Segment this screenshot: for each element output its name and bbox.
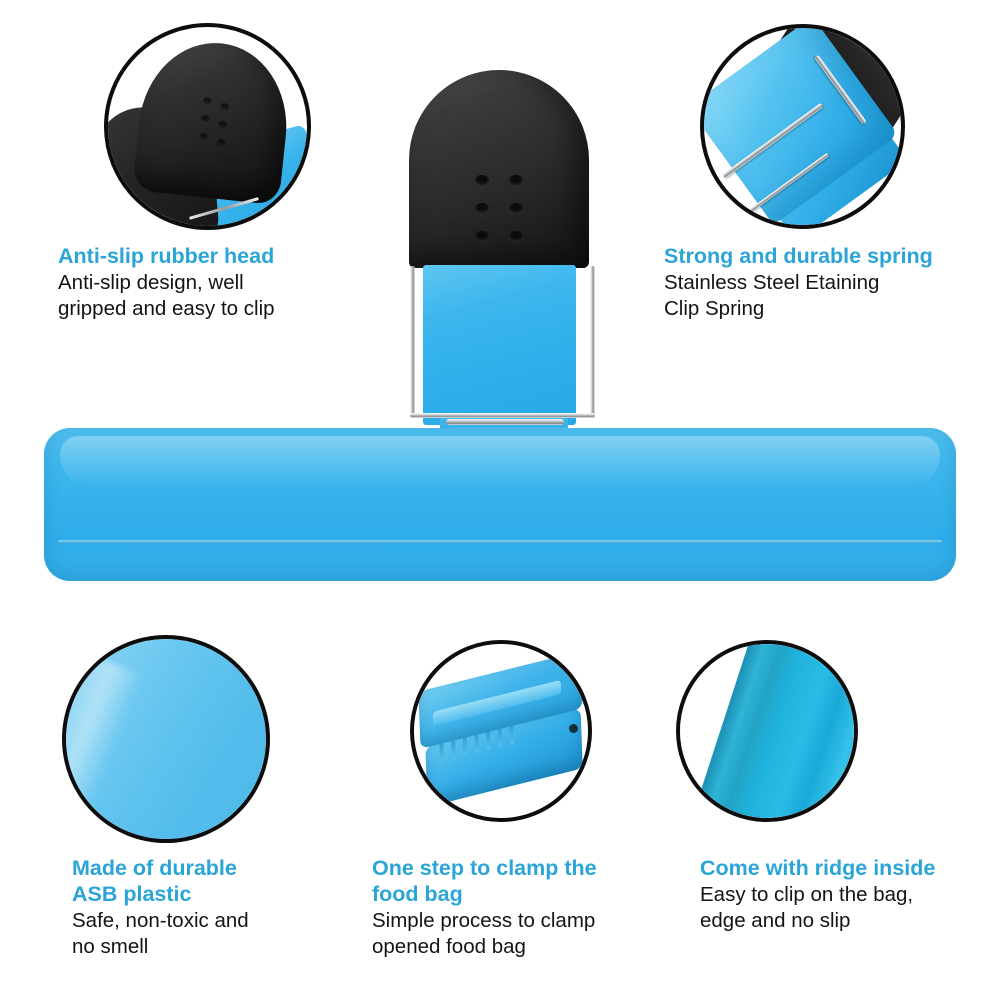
caption-ridge: Come with ridge inside Easy to clip on t…	[700, 855, 1000, 934]
product-neck	[440, 418, 568, 436]
caption-body: Easy to clip on the bag, edge and no sli…	[700, 882, 1000, 934]
spring-wire-crossbar	[446, 419, 564, 425]
caption-body: Stainless Steel Etaining Clip Spring	[664, 270, 1000, 322]
clamp-bar-groove	[58, 540, 942, 544]
caption-plastic: Made of durable ASB plastic Safe, non-to…	[72, 855, 372, 960]
caption-rubber-head: Anti-slip rubber head Anti-slip design, …	[58, 243, 388, 322]
product-rubber-head	[409, 70, 589, 268]
photo-bubble-plastic	[62, 635, 270, 843]
caption-title: Anti-slip rubber head	[58, 243, 388, 269]
clamp-bar-highlight	[60, 436, 940, 488]
spring-wire-bottom	[410, 413, 595, 418]
spring-wire-left	[410, 266, 415, 418]
product-blue-body	[423, 265, 576, 425]
caption-body: Safe, non-toxic and no smell	[72, 908, 372, 960]
rubber-head-grip-dots	[475, 175, 523, 243]
caption-title: Strong and durable spring	[664, 243, 1000, 269]
product-clamp-bar	[44, 428, 956, 581]
spring-wire-right	[590, 266, 595, 418]
caption-title: One step to clamp the food bag	[372, 855, 682, 907]
photo-bubble-ridge	[676, 640, 858, 822]
caption-title: Come with ridge inside	[700, 855, 1000, 881]
caption-body: Anti-slip design, well gripped and easy …	[58, 270, 388, 322]
caption-title: Made of durable ASB plastic	[72, 855, 372, 907]
caption-clamp: One step to clamp the food bag Simple pr…	[372, 855, 682, 960]
caption-spring: Strong and durable spring Stainless Stee…	[664, 243, 1000, 322]
bubble-grip-dots	[197, 97, 247, 161]
clamp-hinge-pin	[569, 724, 578, 733]
photo-bubble-rubber-head	[104, 23, 311, 230]
caption-body: Simple process to clamp opened food bag	[372, 908, 682, 960]
photo-bubble-spring	[700, 24, 905, 229]
product-infographic: Anti-slip rubber head Anti-slip design, …	[0, 0, 1000, 1000]
photo-bubble-clamp	[410, 640, 592, 822]
